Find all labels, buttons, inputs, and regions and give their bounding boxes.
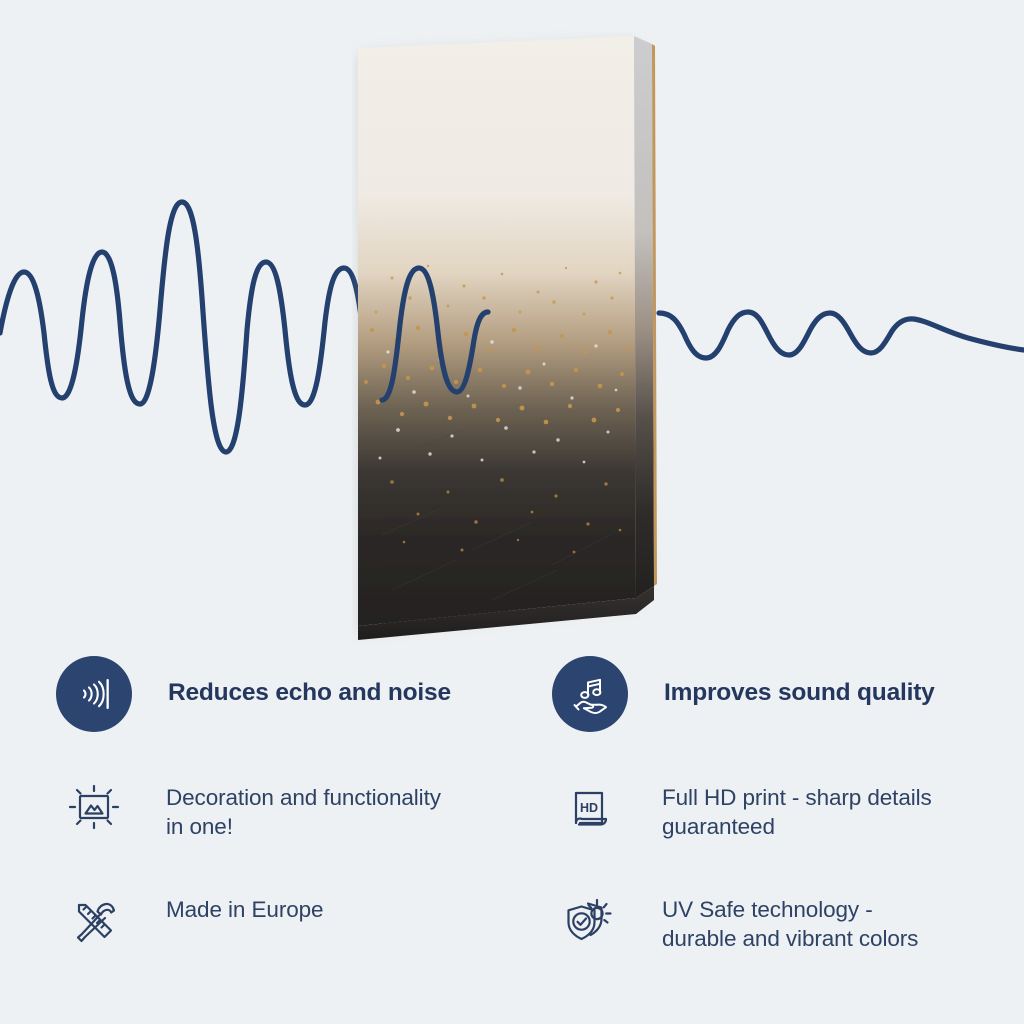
feature-item-made-in-europe: Made in Europe <box>56 890 323 952</box>
feature-item-reduces-echo: Reduces echo and noise <box>56 656 451 732</box>
canvas-artwork <box>352 30 664 652</box>
feature-label-line: durable and vibrant colors <box>662 925 918 954</box>
feature-label-block: Full HD print - sharp details guaranteed <box>662 778 932 842</box>
feature-label-block: Made in Europe <box>166 890 323 925</box>
feature-label-line: Full HD print - sharp details <box>662 784 932 813</box>
feature-label: Improves sound quality <box>664 656 935 707</box>
feature-item-decoration-functionality: Decoration and functionality in one! <box>56 778 441 842</box>
feature-label-line: in one! <box>166 813 441 842</box>
canvas-artwork-svg <box>352 30 664 652</box>
canvas-side-edge <box>634 36 654 598</box>
feature-label-block: Decoration and functionality in one! <box>166 778 441 842</box>
feature-label: Reduces echo and noise <box>168 656 451 707</box>
feature-label-line: Made in Europe <box>166 896 323 925</box>
feature-item-improves-sound: Improves sound quality <box>552 656 935 732</box>
framed-picture-icon <box>56 778 132 840</box>
feature-label-block: UV Safe technology - durable and vibrant… <box>662 890 918 954</box>
feature-item-full-hd-print: HD Full HD print - sharp details guarant… <box>552 778 932 842</box>
infographic-stage: Reduces echo and noise <box>0 0 1024 1024</box>
feature-list: Reduces echo and noise <box>0 636 1024 1024</box>
feature-label-line: UV Safe technology - <box>662 896 918 925</box>
svg-text:HD: HD <box>580 801 598 815</box>
feature-label-line: guaranteed <box>662 813 932 842</box>
shield-sun-icon <box>552 890 628 952</box>
hand-music-note-icon <box>552 656 628 732</box>
feature-label-line: Decoration and functionality <box>166 784 441 813</box>
sound-waves-icon <box>56 656 132 732</box>
ruler-hammer-icon <box>56 890 132 952</box>
hd-page-icon: HD <box>552 778 628 840</box>
feature-item-uv-safe: UV Safe technology - durable and vibrant… <box>552 890 918 954</box>
